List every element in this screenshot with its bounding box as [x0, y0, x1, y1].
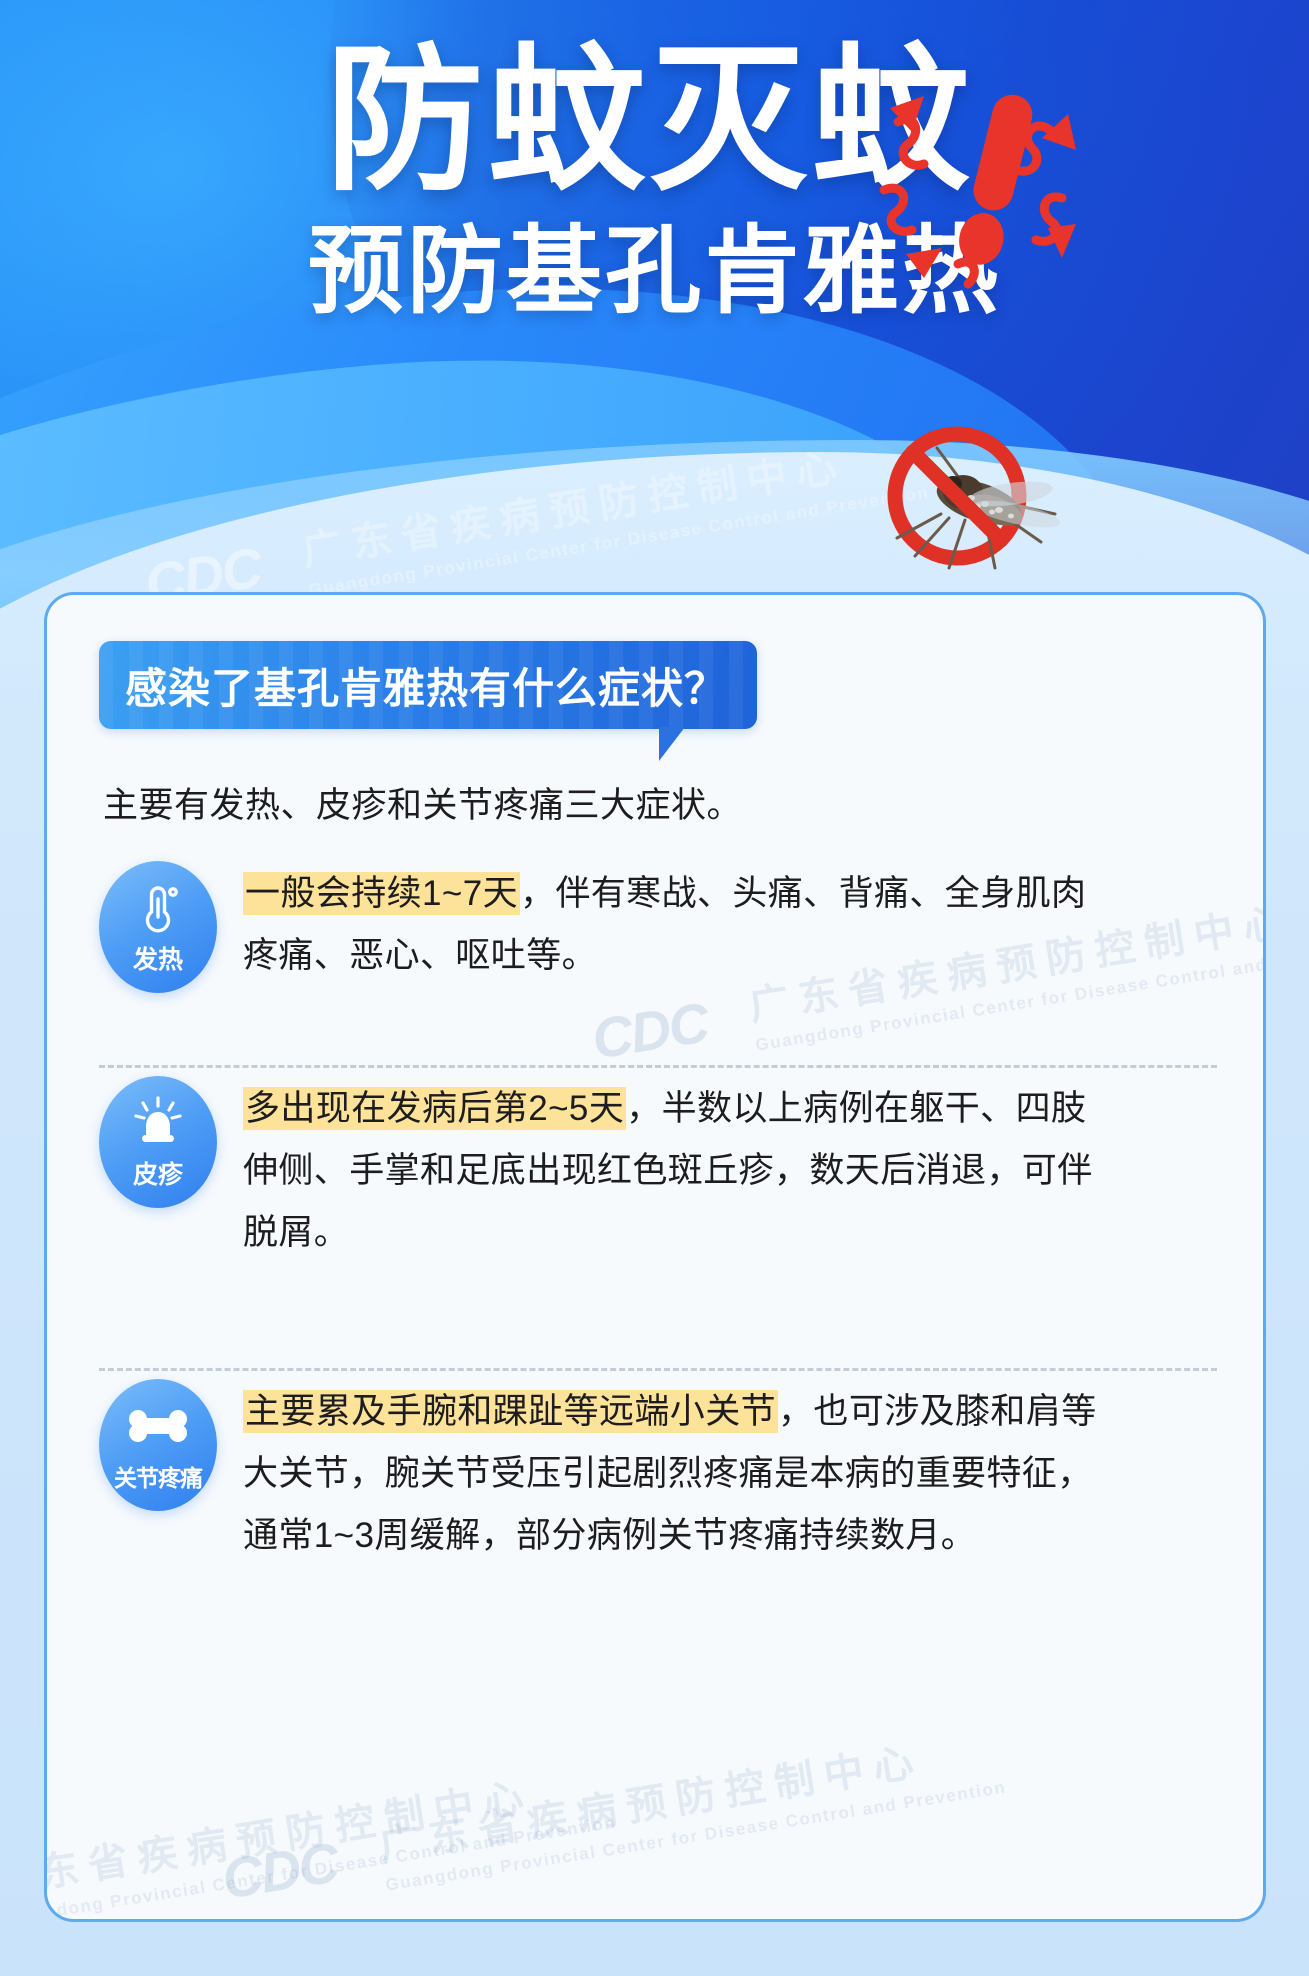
watermark-cn-text: 广东省疾病预防控制中心: [374, 1716, 1004, 1872]
footer-fade: [0, 1920, 1309, 1976]
question-banner-tail: [659, 727, 685, 761]
watermark-card-3: CDC 广东省疾病预防控制中心 Guangdong Provincial Cen…: [44, 1751, 618, 1922]
watermark-card-2: CDC 广东省疾病预防控制中心 Guangdong Provincial Cen…: [374, 1716, 1007, 1895]
symptom-text-rash: 多出现在发病后第2~5天，半数以上病例在躯干、四肢伸侧、手掌和足底出现红色斑丘疹…: [243, 1068, 1103, 1264]
symptom-label-fever: 发热: [133, 940, 183, 976]
poster-title-sub: 预防基孔肯雅热: [0, 224, 1309, 320]
card-intro-text: 主要有发热、皮疹和关节疼痛三大症状。: [103, 777, 742, 828]
symptom-rows: 发热 一般会持续1~7天，伴有寒战、头痛、背痛、全身肌肉疼痛、恶心、呕吐等。: [47, 853, 1266, 1671]
rash-alarm-icon: [132, 1093, 184, 1151]
poster-title-main: 防蚊灭蚊: [326, 42, 984, 200]
symptom-badge-joint: 关节疼痛: [99, 1379, 217, 1511]
poster-root: CDC 广东省疾病预防控制中心 Guangdong Provincial Cen…: [0, 0, 1309, 1976]
question-banner-text: 感染了基孔肯雅热有什么症状？: [125, 655, 727, 716]
symptom-label-joint: 关节疼痛: [114, 1459, 202, 1493]
question-banner: 感染了基孔肯雅热有什么症状？: [99, 641, 757, 729]
symptom-highlight-fever: 一般会持续1~7天: [243, 872, 520, 915]
watermark-en-text: Guangdong Provincial Center for Disease …: [384, 1778, 1008, 1896]
symptom-highlight-rash: 多出现在发病后第2~5天: [243, 1087, 626, 1130]
symptom-row-rash: 皮疹 多出现在发病后第2~5天，半数以上病例在躯干、四肢伸侧、手掌和足底出现红色…: [47, 1068, 1266, 1368]
symptom-text-fever: 一般会持续1~7天，伴有寒战、头痛、背痛、全身肌肉疼痛、恶心、呕吐等。: [243, 853, 1103, 987]
symptom-highlight-joint: 主要累及手腕和踝趾等远端小关节: [243, 1390, 778, 1433]
watermark-logo: CDC: [218, 1830, 342, 1912]
watermark-en-text: Guangdong Provincial Center for Disease …: [44, 1813, 618, 1922]
poster-title-block: 防蚊灭蚊 预防基孔肯雅热: [0, 42, 1309, 320]
watermark-cn-text: 广东省疾病预防控制中心: [44, 1751, 614, 1907]
symptom-text-joint: 主要累及手腕和踝趾等远端小关节，也可涉及膝和肩等大关节，腕关节受压引起剧烈疼痛是…: [243, 1371, 1103, 1567]
no-mosquito-icon: [845, 418, 1105, 608]
symptom-row-fever: 发热 一般会持续1~7天，伴有寒战、头痛、背痛、全身肌肉疼痛、恶心、呕吐等。: [47, 853, 1266, 1065]
symptoms-card: 感染了基孔肯雅热有什么症状？ 主要有发热、皮疹和关节疼痛三大症状。: [44, 592, 1266, 1922]
symptom-badge-fever: 发热: [99, 861, 217, 993]
symptom-badge-rash: 皮疹: [99, 1076, 217, 1208]
bone-icon: [126, 1397, 190, 1455]
thermometer-icon: [137, 878, 179, 936]
symptom-row-joint: 关节疼痛 主要累及手腕和踝趾等远端小关节，也可涉及膝和肩等大关节，腕关节受压引起…: [47, 1371, 1266, 1671]
symptom-label-rash: 皮疹: [133, 1155, 183, 1191]
